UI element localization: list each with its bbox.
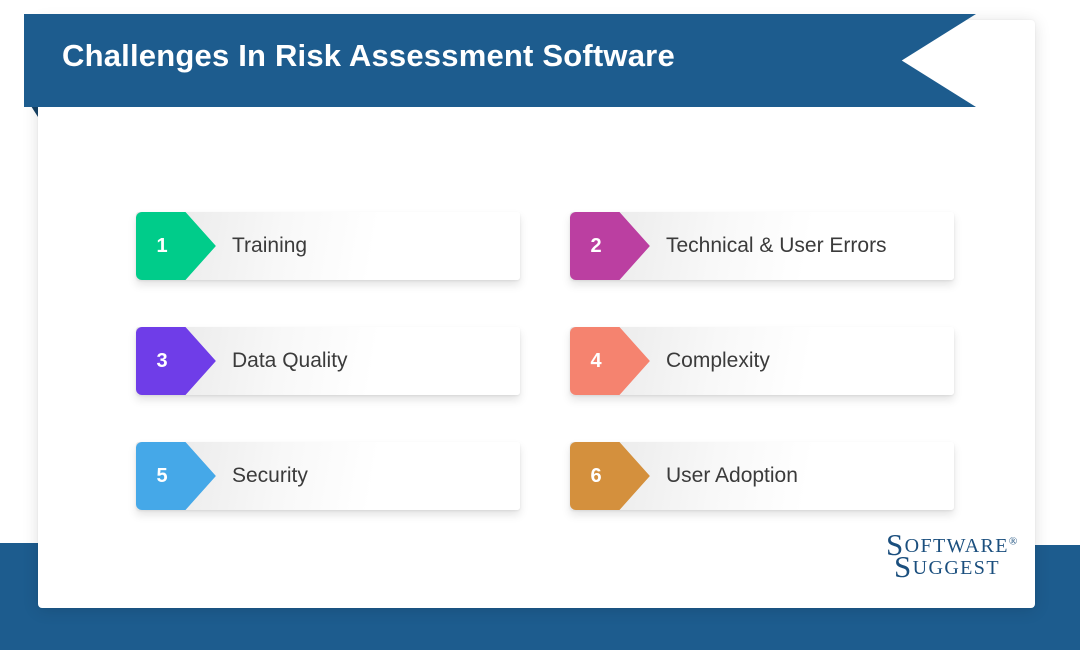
infographic-canvas: Challenges In Risk Assessment Software 1… (0, 0, 1080, 650)
item-number: 4 (570, 327, 622, 395)
item-label: Data Quality (232, 327, 348, 395)
list-item[interactable]: 2 Technical & User Errors (570, 212, 954, 280)
logo-line-suggest: SUGGEST (894, 558, 1017, 578)
logo-text-oftware: OFTWARE (905, 535, 1009, 557)
item-label: Training (232, 212, 307, 280)
item-number: 2 (570, 212, 622, 280)
item-label: Security (232, 442, 308, 510)
item-number: 1 (136, 212, 188, 280)
logo-capital-s2: S (894, 549, 913, 584)
list-item[interactable]: 4 Complexity (570, 327, 954, 395)
list-item[interactable]: 6 User Adoption (570, 442, 954, 510)
header-ribbon: Challenges In Risk Assessment Software (0, 0, 1080, 130)
challenges-list: 1 Training 2 Technical & User Errors 3 D… (136, 212, 954, 510)
item-label: Technical & User Errors (666, 212, 887, 280)
item-number: 6 (570, 442, 622, 510)
item-number: 5 (136, 442, 188, 510)
page-title: Challenges In Risk Assessment Software (62, 38, 675, 74)
list-item[interactable]: 5 Security (136, 442, 520, 510)
item-number: 3 (136, 327, 188, 395)
item-label: User Adoption (666, 442, 798, 510)
brand-logo[interactable]: SOFTWARE® SUGGEST (886, 536, 1017, 578)
item-label: Complexity (666, 327, 770, 395)
logo-text-uggest: UGGEST (913, 557, 1000, 579)
list-item[interactable]: 3 Data Quality (136, 327, 520, 395)
list-item[interactable]: 1 Training (136, 212, 520, 280)
registered-trademark-icon: ® (1009, 535, 1017, 547)
